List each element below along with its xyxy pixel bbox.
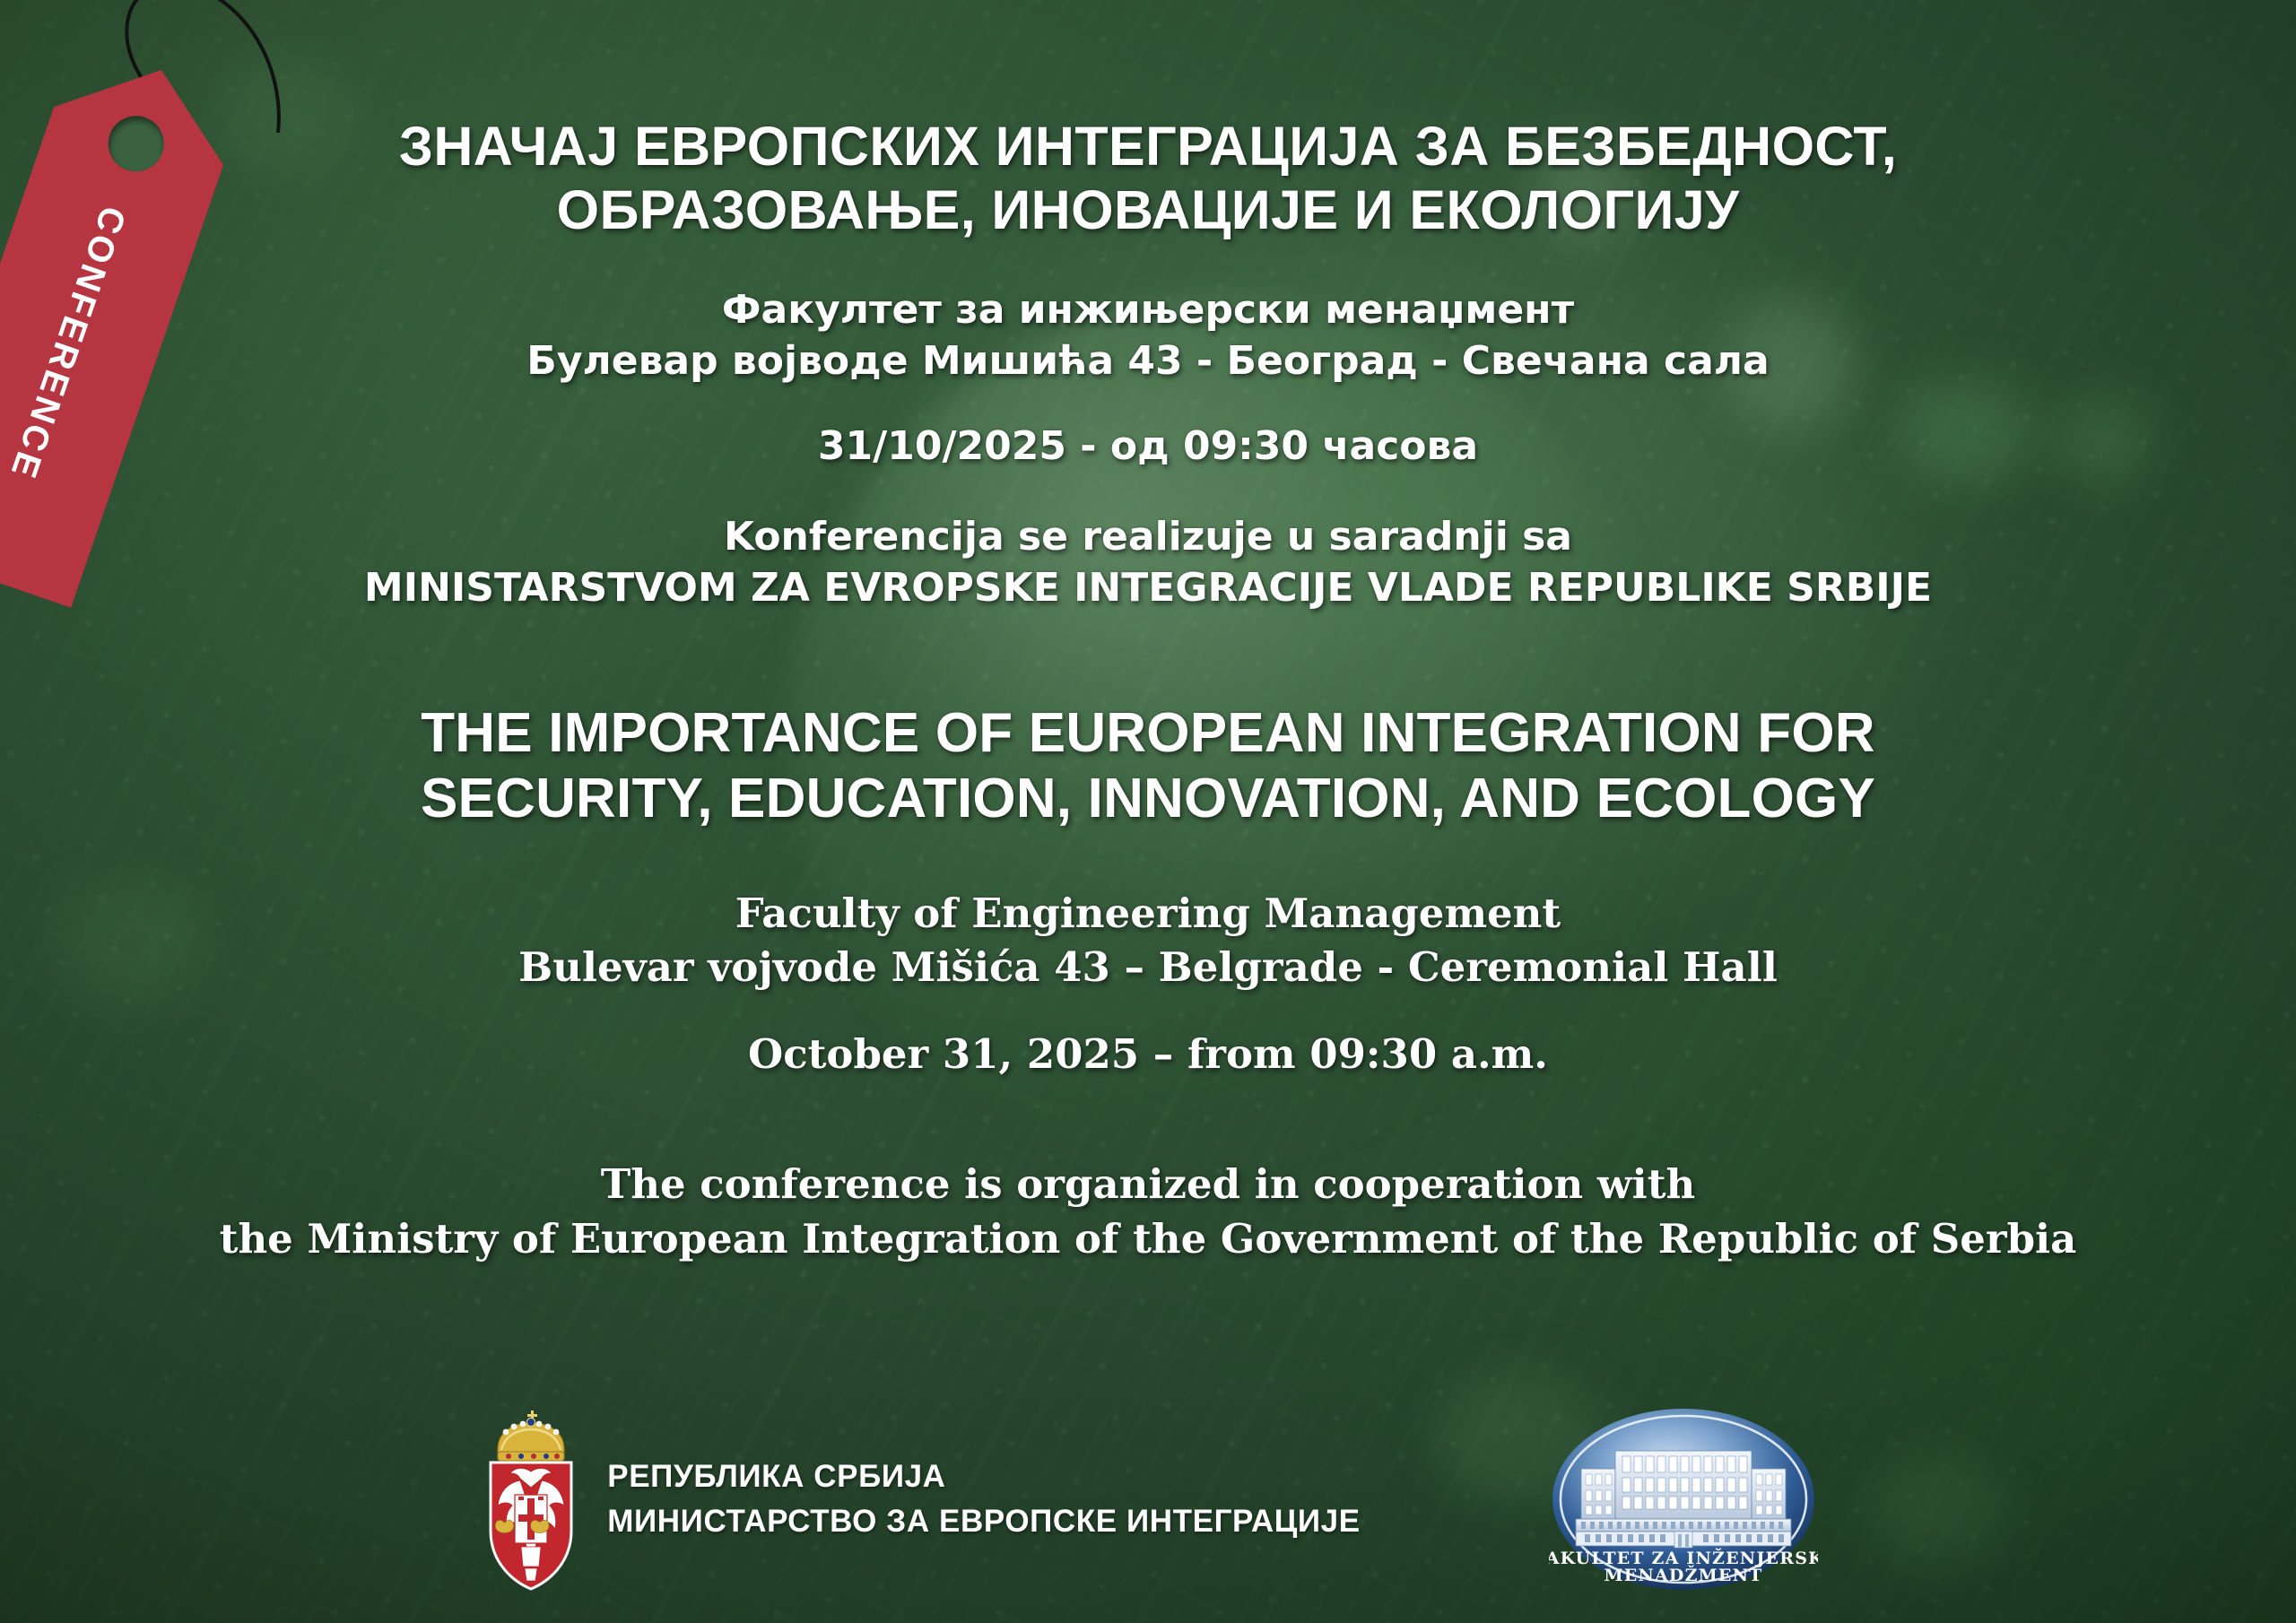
serbian-title: ЗНАЧАЈ ЕВРОПСКИХ ИНТЕГРАЦИЈА ЗА БЕЗБЕДНО… — [0, 115, 2296, 243]
serbian-title-line-2: ОБРАЗОВАЊЕ, ИНОВАЦИЈЕ И ЕКОЛОГИЈУ — [0, 178, 2296, 242]
english-venue-line-1: Faculty of Engineering Management — [0, 887, 2296, 941]
poster-content: ЗНАЧАЈ ЕВРОПСКИХ ИНТЕГРАЦИЈА ЗА БЕЗБЕДНО… — [0, 0, 2296, 1623]
english-title-line-2: SECURITY, EDUCATION, INNOVATION, AND ECO… — [0, 766, 2296, 831]
faculty-logo-line-2: MENADŽMENT — [1604, 1565, 1762, 1585]
serbian-venue-line-1: Факултет за инжињерски менаџмент — [0, 284, 2296, 335]
logo-row: РЕПУБЛИКА СРБИЈА МИНИСТАРСТВО ЗА ЕВРОПСК… — [0, 1392, 2296, 1607]
serbian-venue-line-2: Булевар војводе Мишића 43 - Београд - Св… — [0, 335, 2296, 386]
english-venue: Faculty of Engineering Management Buleva… — [0, 887, 2296, 995]
serbian-date: 31/10/2025 - од 09:30 часова — [0, 421, 2296, 472]
serbian-cooperation: Konferencija se realizuje u saradnji sa … — [0, 511, 2296, 613]
ministry-logo: РЕПУБЛИКА СРБИЈА МИНИСТАРСТВО ЗА ЕВРОПСК… — [478, 1405, 1360, 1593]
ministry-text: РЕПУБЛИКА СРБИЈА МИНИСТАРСТВО ЗА ЕВРОПСК… — [607, 1459, 1360, 1540]
ministry-line-1: РЕПУБЛИКА СРБИЈА — [607, 1459, 1360, 1495]
english-title: THE IMPORTANCE OF EUROPEAN INTEGRATION F… — [0, 700, 2296, 831]
serbian-cooperation-line-1: Konferencija se realizuje u saradnji sa — [0, 511, 2296, 562]
conference-poster: CONFERENCE ЗНАЧАЈ ЕВРОПСКИХ ИНТЕГРАЦИЈА … — [0, 0, 2296, 1623]
faculty-logo: FAKULTET ZA INŽENJERSKI MENADŽMENT — [1549, 1406, 1818, 1593]
english-cooperation-line-2: the Ministry of European Integration of … — [0, 1211, 2296, 1266]
english-date: October 31, 2025 – from 09:30 a.m. — [0, 1028, 2296, 1081]
english-title-line-1: THE IMPORTANCE OF EUROPEAN INTEGRATION F… — [0, 700, 2296, 766]
english-venue-line-2: Bulevar vojvode Mišića 43 – Belgrade - C… — [0, 941, 2296, 994]
ministry-line-2: МИНИСТАРСТВО ЗА ЕВРОПСКЕ ИНТЕГРАЦИЈЕ — [607, 1504, 1360, 1540]
serbian-venue: Факултет за инжињерски менаџмент Булевар… — [0, 284, 2296, 386]
serbian-coat-of-arms-icon — [478, 1405, 584, 1593]
serbian-title-line-1: ЗНАЧАЈ ЕВРОПСКИХ ИНТЕГРАЦИЈА ЗА БЕЗБЕДНО… — [0, 115, 2296, 178]
serbian-cooperation-line-2: MINISTARSTVOM ZA EVROPSKE INTEGRACIJE VL… — [0, 562, 2296, 613]
english-cooperation: The conference is organized in cooperati… — [0, 1157, 2296, 1266]
english-cooperation-line-1: The conference is organized in cooperati… — [0, 1157, 2296, 1211]
